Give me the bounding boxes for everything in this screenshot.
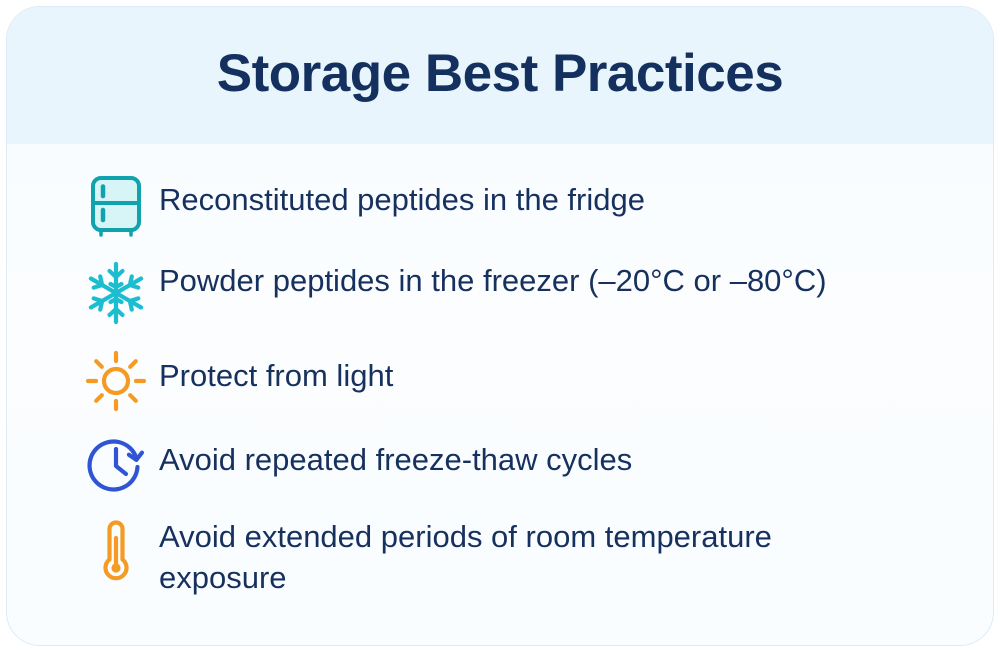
- refrigerator-icon: [73, 168, 159, 242]
- card-header: Storage Best Practices: [7, 7, 993, 144]
- thermometer-icon: [73, 512, 159, 588]
- list-item: Protect from light: [73, 344, 953, 418]
- list-item-label: Avoid extended periods of room temperatu…: [159, 512, 859, 598]
- page-title: Storage Best Practices: [217, 47, 783, 104]
- best-practices-list: Reconstituted peptides in the fridge: [7, 144, 993, 645]
- storage-best-practices-card: Storage Best Practices Reconstituted pep…: [6, 6, 994, 646]
- list-item: Avoid extended periods of room temperatu…: [73, 512, 953, 598]
- sun-icon: [73, 344, 159, 418]
- list-item-label: Reconstituted peptides in the fridge: [159, 168, 859, 220]
- list-item-label: Protect from light: [159, 344, 859, 396]
- list-item: Reconstituted peptides in the fridge: [73, 168, 953, 242]
- snowflake-icon: [73, 256, 159, 334]
- clock-rotate-icon: [73, 428, 159, 502]
- list-item-label: Avoid repeated freeze-thaw cycles: [159, 428, 859, 480]
- list-item: Powder peptides in the freezer (–20°C or…: [73, 256, 953, 334]
- list-item: Avoid repeated freeze-thaw cycles: [73, 428, 953, 502]
- list-item-label: Powder peptides in the freezer (–20°C or…: [159, 256, 859, 301]
